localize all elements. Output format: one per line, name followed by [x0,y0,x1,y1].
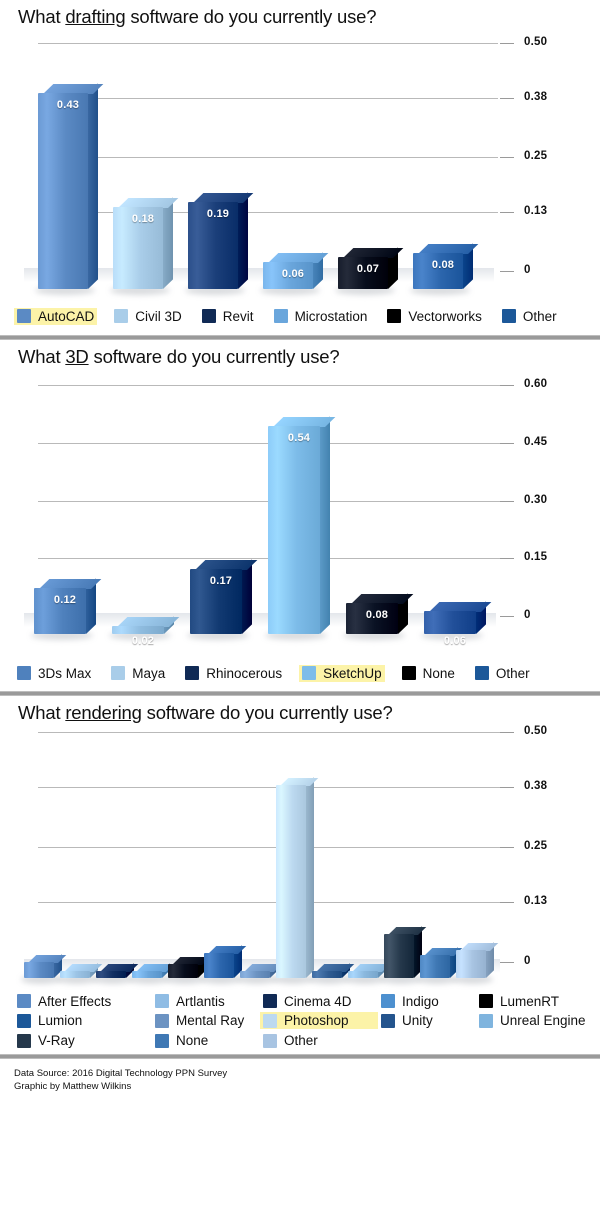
legend-item-label: Vectorworks [408,309,482,324]
legend-item-label: Lumion [38,1013,82,1028]
legend-item-autocad[interactable]: AutoCAD [14,308,97,325]
bar-indigo[interactable] [132,971,162,978]
axis-tick-mark [500,385,514,386]
axis-tick-label: 0.13 [524,205,547,217]
bar-side-face [320,416,330,634]
legend-item-label: Rhinocerous [206,666,282,681]
bar-mental-ray[interactable] [240,971,270,978]
bar-photoshop[interactable] [276,785,306,978]
bar-front-face [276,785,306,978]
legend-swatch-icon [17,994,31,1008]
axis-tick-label: 0.50 [524,36,547,48]
legend-item-label: Cinema 4D [284,994,352,1009]
grid-line [38,43,498,44]
title-text-pre: What [18,6,65,27]
legend-item-label: Photoshop [284,1013,349,1028]
legend-swatch-icon [155,1014,169,1028]
bar-value-label: 0.19 [188,208,248,220]
bar-other[interactable] [424,611,476,634]
bar-value-label: 0.54 [268,432,330,444]
legend-item-vectorworks[interactable]: Vectorworks [384,308,485,325]
bar-value-label: 0.08 [346,609,408,621]
bar-other[interactable] [456,950,486,978]
section-drafting: What drafting software do you currently … [0,0,600,329]
legend-item-label: Unity [402,1013,433,1028]
chart-title-rendering: What rendering software do you currently… [0,696,600,724]
bar-value-label: 0.12 [34,594,96,606]
infographic-page: What drafting software do you currently … [0,0,600,1206]
bar-side-face [88,83,98,289]
legend-item-label: V-Ray [38,1033,75,1048]
title-text-underline: rendering [65,702,141,723]
legend-item-label: Indigo [402,994,439,1009]
legend-swatch-icon [17,1014,31,1028]
axis-tick-mark [500,501,514,502]
legend-item-cinema-4d[interactable]: Cinema 4D [260,993,378,1010]
legend-swatch-icon [17,1034,31,1048]
legend-item-other[interactable]: Other [260,1032,378,1049]
legend-item-artlantis[interactable]: Artlantis [152,993,260,1010]
legend-swatch-icon [111,666,125,680]
bar-value-label: 0.18 [113,213,173,225]
bar-front-face [132,971,162,978]
legend-swatch-icon [402,666,416,680]
axis-tick-mark [500,902,514,903]
legend-swatch-icon [475,666,489,680]
legend-swatch-icon [387,309,401,323]
bar-front-face [96,971,126,978]
axis-tick-label: 0.30 [524,494,547,506]
bar-value-label: 0.08 [413,259,473,271]
legend-swatch-icon [263,1014,277,1028]
bar-front-face [348,971,378,978]
bar-value-label: 0.17 [190,575,252,587]
axis-tick-mark [500,271,514,272]
axis-tick-mark [500,787,514,788]
legend-item-after-effects[interactable]: After Effects [14,993,152,1010]
axis-tick-label: 0.25 [524,840,547,852]
legend-swatch-icon [185,666,199,680]
legend-item-none[interactable]: None [152,1032,260,1049]
footer-credits: Data Source: 2016 Digital Technology PPN… [0,1059,600,1093]
bar-front-face [38,93,88,289]
legend-item-label: SketchUp [323,666,382,681]
title-text-post: software do you currently use? [125,6,376,27]
bar-side-face [306,777,314,978]
legend-item-photoshop[interactable]: Photoshop [260,1012,378,1029]
title-text-underline: drafting [65,6,125,27]
bar-none[interactable] [420,955,450,978]
bar-side-face [163,197,173,289]
axis-tick-label: 0.38 [524,91,547,103]
legend-swatch-icon [502,309,516,323]
bar-value-label: 0.43 [38,99,98,111]
legend-item-v-ray[interactable]: V-Ray [14,1032,152,1049]
chart-legend-3d: 3Ds MaxMayaRhinocerousSketchUpNoneOther [0,660,600,686]
bar-front-face [112,626,164,634]
legend-swatch-icon [263,994,277,1008]
section-3d: What 3D software do you currently use? 0… [0,340,600,686]
legend-swatch-icon [155,1034,169,1048]
axis-tick-mark [500,43,514,44]
bar-after-effects[interactable] [24,962,54,978]
axis-tick-mark [500,616,514,617]
legend-item-label: Other [284,1033,318,1048]
legend-item-label: Revit [223,309,254,324]
chart-title-3d: What 3D software do you currently use? [0,340,600,368]
bar-cinema-4d[interactable] [96,971,126,978]
legend-swatch-icon [17,666,31,680]
grid-line [38,98,498,99]
bar-value-label: 0.02 [112,635,174,647]
bar-side-face [238,193,248,289]
legend-swatch-icon [302,666,316,680]
bar-value-label: 0.06 [263,268,323,280]
chart-legend-rendering: After EffectsArtlantisCinema 4DIndigoLum… [0,992,600,1050]
chart-plot-rendering: 0.500.380.250.130 [0,724,600,992]
legend-item-label: Microstation [295,309,368,324]
chart-title-drafting: What drafting software do you currently … [0,0,600,28]
legend-item-label: 3Ds Max [38,666,91,681]
legend-swatch-icon [274,309,288,323]
title-text-post: software do you currently use? [142,702,393,723]
bar-value-label: 0.06 [424,635,486,647]
axis-tick-label: 0.15 [524,551,547,563]
legend-swatch-icon [381,1014,395,1028]
axis-tick-label: 0.38 [524,780,547,792]
legend-item-civil-3d[interactable]: Civil 3D [111,308,185,325]
legend-swatch-icon [114,309,128,323]
bar-side-face [242,559,252,634]
bar-unreal-engine[interactable] [348,971,378,978]
legend-item-label: None [423,666,455,681]
bar-v-ray[interactable] [384,934,414,978]
legend-item-other[interactable]: Other [499,308,560,325]
bar-autocad[interactable] [38,93,88,289]
legend-item-lumion[interactable]: Lumion [14,1012,152,1029]
axis-tick-label: 0 [524,264,531,276]
legend-item-label: Unreal Engine [500,1013,586,1028]
legend-item-label: Other [523,309,557,324]
bar-front-face [60,971,90,978]
title-text-pre: What [18,346,65,367]
legend-item-unity[interactable]: Unity [378,1012,476,1029]
chart-legend-drafting: AutoCADCivil 3DRevitMicrostationVectorwo… [0,303,600,329]
bar-front-face [240,971,270,978]
bar-sketchup[interactable] [268,426,320,634]
bar-front-face [268,426,320,634]
legend-swatch-icon [381,994,395,1008]
axis-tick-mark [500,157,514,158]
legend-item-label: None [176,1033,208,1048]
grid-line [38,787,504,788]
axis-tick-mark [500,847,514,848]
axis-tick-label: 0.45 [524,436,547,448]
grid-line [38,732,504,733]
legend-item-indigo[interactable]: Indigo [378,993,476,1010]
bar-front-face [424,611,476,634]
legend-item-label: Maya [132,666,165,681]
section-rendering: What rendering software do you currently… [0,696,600,1050]
legend-item-rhinocerous[interactable]: Rhinocerous [182,665,285,682]
legend-swatch-icon [202,309,216,323]
legend-item-label: Mental Ray [176,1013,244,1028]
legend-swatch-icon [155,994,169,1008]
axis-tick-mark [500,98,514,99]
axis-tick-label: 0.50 [524,725,547,737]
bar-front-face [168,964,198,978]
legend-item-microstation[interactable]: Microstation [271,308,371,325]
legend-swatch-icon [17,309,31,323]
title-text-post: software do you currently use? [89,346,340,367]
legend-item-other[interactable]: Other [472,665,533,682]
grid-line [38,212,498,213]
legend-swatch-icon [479,994,493,1008]
axis-tick-mark [500,962,514,963]
legend-item-label: LumenRT [500,994,559,1009]
grid-line [38,157,498,158]
bar-lumenrt[interactable] [168,964,198,978]
grid-line [38,902,504,903]
bar-front-face [204,953,234,978]
legend-item-maya[interactable]: Maya [108,665,168,682]
bar-lumion[interactable] [204,953,234,978]
grid-line [38,847,504,848]
axis-tick-mark [500,732,514,733]
legend-item-label: Civil 3D [135,309,182,324]
axis-tick-label: 0 [524,955,531,967]
legend-item-lumenrt[interactable]: LumenRT [476,993,600,1010]
legend-item-label: Other [496,666,530,681]
bar-value-label: 0.07 [338,263,398,275]
legend-item-3ds-max[interactable]: 3Ds Max [14,665,94,682]
bar-maya[interactable] [112,626,164,634]
legend-item-none[interactable]: None [399,665,458,682]
axis-tick-mark [500,558,514,559]
bar-front-face [312,971,342,978]
bar-front-face [420,955,450,978]
legend-item-unreal-engine[interactable]: Unreal Engine [476,1012,600,1029]
title-text-pre: What [18,702,65,723]
bar-unity[interactable] [312,971,342,978]
footer-graphic-credit: Graphic by Matthew Wilkins [14,1081,600,1094]
bar-front-face [456,950,486,978]
axis-tick-mark [500,443,514,444]
legend-item-label: AutoCAD [38,309,94,324]
grid-line [38,385,500,386]
axis-tick-label: 0.13 [524,895,547,907]
axis-tick-label: 0.60 [524,378,547,390]
footer-data-source: Data Source: 2016 Digital Technology PPN… [14,1068,600,1081]
legend-item-sketchup[interactable]: SketchUp [299,665,385,682]
axis-tick-label: 0 [524,609,531,621]
legend-item-mental-ray[interactable]: Mental Ray [152,1012,260,1029]
bar-artlantis[interactable] [60,971,90,978]
legend-item-label: After Effects [38,994,111,1009]
legend-item-revit[interactable]: Revit [199,308,257,325]
axis-tick-mark [500,212,514,213]
legend-item-label: Artlantis [176,994,225,1009]
axis-tick-label: 0.25 [524,150,547,162]
title-text-underline: 3D [65,346,88,367]
legend-swatch-icon [263,1034,277,1048]
bar-front-face [384,934,414,978]
legend-swatch-icon [479,1014,493,1028]
chart-plot-drafting: 0.500.380.250.1300.430.180.190.060.070.0… [0,28,600,303]
chart-plot-3d: 0.600.450.300.1500.120.020.170.540.080.0… [0,368,600,660]
bar-front-face [24,962,54,978]
